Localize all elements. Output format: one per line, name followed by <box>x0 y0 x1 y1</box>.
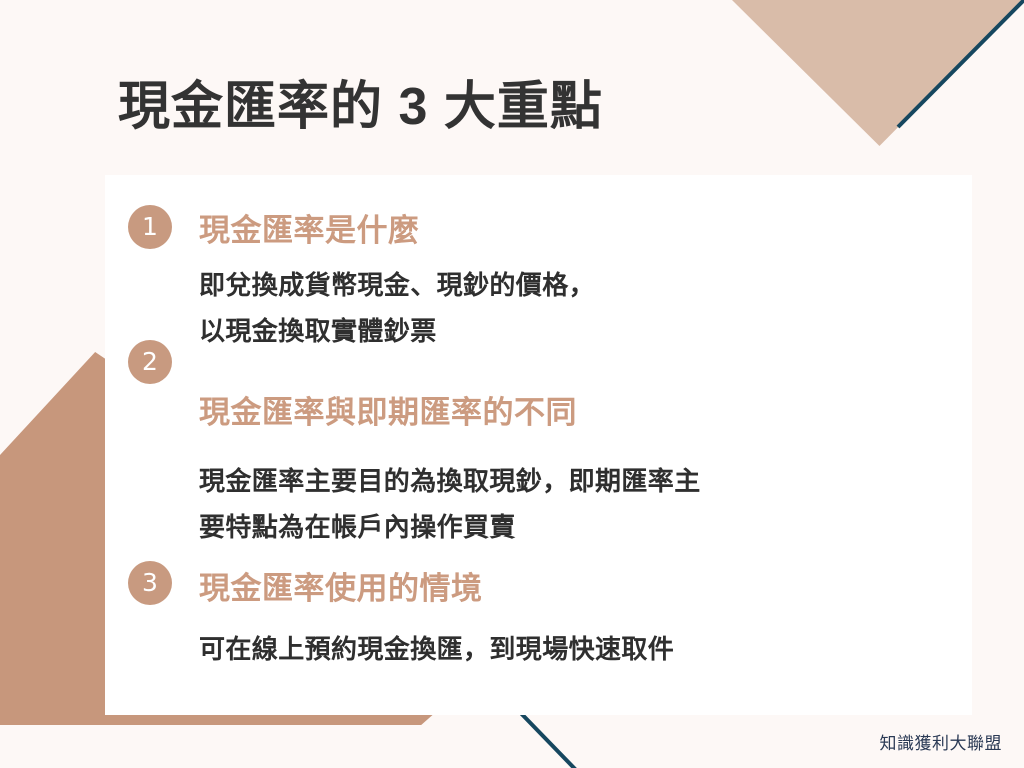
list-item-body-line: 即兌換成貨幣現金、現鈔的價格， <box>199 262 595 308</box>
triangle-decoration-top-right <box>732 0 1024 146</box>
list-item-body-line: 可在線上預約現金換匯，到現場快速取件 <box>199 626 674 672</box>
page-title: 現金匯率的 3 大重點 <box>118 64 603 139</box>
list-item-body-line: 現金匯率主要目的為換取現鈔，即期匯率主 <box>199 458 701 504</box>
list-item-heading-3: 現金匯率使用的情境 <box>199 563 483 608</box>
list-item-heading-1: 現金匯率是什麼 <box>199 205 420 250</box>
list-item-heading-2: 現金匯率與即期匯率的不同 <box>199 387 577 432</box>
list-item-body-line: 要特點為在帳戶內操作買賣 <box>199 504 701 550</box>
slide-canvas: 現金匯率的 3 大重點 1 現金匯率是什麼 即兌換成貨幣現金、現鈔的價格， 以現… <box>0 0 1024 768</box>
list-number-badge-3: 3 <box>128 561 172 605</box>
diagonal-line-decoration-top-right <box>880 0 1024 144</box>
list-item-body-1: 即兌換成貨幣現金、現鈔的價格， 以現金換取實體鈔票 <box>199 262 595 354</box>
list-number-badge-2: 2 <box>128 340 172 384</box>
list-item-body-line: 以現金換取實體鈔票 <box>199 308 595 354</box>
list-item-body-3: 可在線上預約現金換匯，到現場快速取件 <box>199 626 674 672</box>
list-number-badge-1: 1 <box>128 205 172 249</box>
list-item-body-2: 現金匯率主要目的為換取現鈔，即期匯率主 要特點為在帳戶內操作買賣 <box>199 458 701 550</box>
footer-brand-label: 知識獲利大聯盟 <box>880 729 1003 754</box>
